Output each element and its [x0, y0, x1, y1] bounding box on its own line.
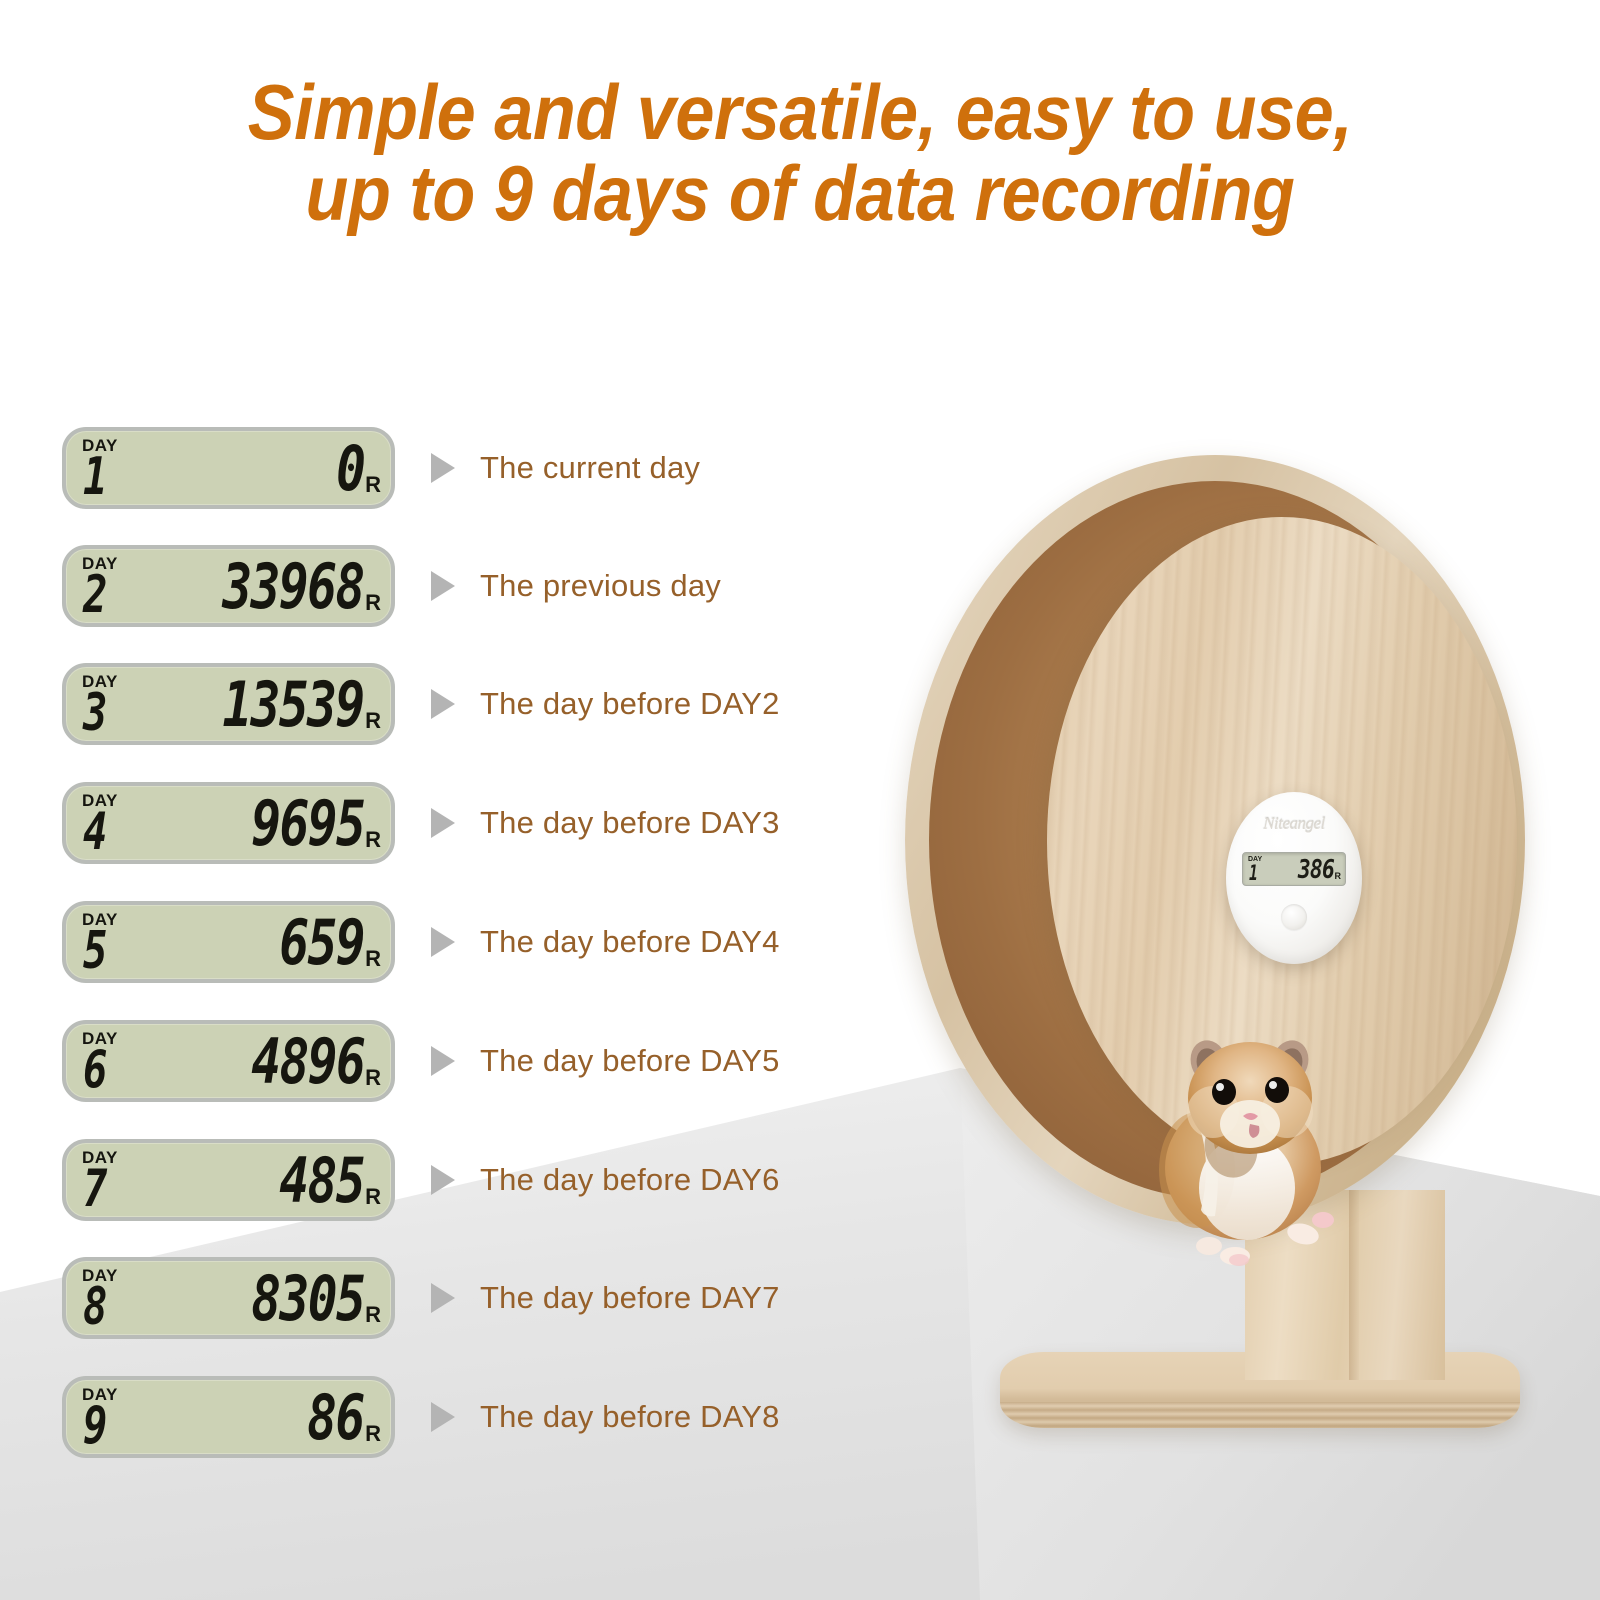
row-caption: The day before DAY7 [480, 1280, 780, 1316]
lcd-day-number: 1 [83, 451, 107, 503]
lcd-value: 485 [279, 1151, 364, 1211]
lcd-day-block: DAY 5 [80, 905, 132, 977]
row-caption: The day before DAY4 [480, 924, 780, 960]
counter-value: 386 [1297, 858, 1333, 882]
row-caption: The day before DAY3 [480, 805, 780, 841]
day-record-row: DAY 9 86 R The day before DAY8 [62, 1371, 780, 1463]
counter-value-block: 386 R [1267, 858, 1341, 884]
lcd-unit: R [365, 592, 381, 614]
lcd-day-block: DAY 2 [80, 549, 132, 621]
lcd-value-block: 0 R [132, 431, 381, 503]
day-record-row: DAY 2 33968 R The previous day [62, 540, 721, 632]
lcd-value-block: 86 R [132, 1380, 381, 1452]
lcd-day-block: DAY 3 [80, 667, 132, 739]
day-record-row: DAY 3 13539 R The day before DAY2 [62, 658, 780, 750]
lcd-unit: R [365, 1423, 381, 1445]
lcd-value-block: 33968 R [132, 549, 381, 621]
lcd-value: 4896 [251, 1032, 364, 1092]
triangle-bullet-icon [431, 1165, 455, 1195]
lcd-display-day7: DAY 7 485 R [62, 1139, 395, 1221]
lcd-value-block: 13539 R [132, 667, 381, 739]
row-caption: The day before DAY5 [480, 1043, 780, 1079]
triangle-bullet-icon [431, 927, 455, 957]
counter-lcd-display: DAY 1 386 R [1242, 852, 1346, 886]
lcd-unit: R [365, 948, 381, 970]
lcd-value: 9695 [251, 794, 364, 854]
lcd-unit: R [365, 1067, 381, 1089]
lcd-value: 33968 [223, 557, 364, 617]
lcd-day-number: 8 [83, 1281, 107, 1333]
headline-line-1: Simple and versatile, easy to use, [80, 72, 1520, 153]
lcd-value-block: 659 R [132, 905, 381, 977]
row-caption: The day before DAY2 [480, 686, 780, 722]
lcd-day-block: DAY 4 [80, 786, 132, 858]
lcd-day-number: 3 [83, 687, 107, 739]
lcd-day-number: 4 [83, 806, 107, 858]
counter-unit: R [1335, 871, 1342, 881]
lcd-day-number: 2 [83, 569, 107, 621]
day-record-row: DAY 5 659 R The day before DAY4 [62, 896, 780, 988]
lcd-value-block: 9695 R [132, 786, 381, 858]
counter-day-block: DAY 1 [1247, 853, 1267, 884]
lcd-value: 0 [336, 439, 364, 499]
triangle-bullet-icon [431, 1402, 455, 1432]
lcd-unit: R [365, 829, 381, 851]
day-record-row: DAY 8 8305 R The day before DAY7 [62, 1252, 780, 1344]
day-record-row: DAY 7 485 R The day before DAY6 [62, 1134, 780, 1226]
lcd-value: 8305 [251, 1269, 364, 1329]
lcd-day-number: 7 [83, 1163, 107, 1215]
lcd-day-block: DAY 7 [80, 1143, 132, 1215]
row-caption: The previous day [480, 568, 721, 604]
lcd-display-day3: DAY 3 13539 R [62, 663, 395, 745]
wheel-counter-module[interactable]: Niteangel DAY 1 386 R [1226, 792, 1362, 964]
lcd-display-day1: DAY 1 0 R [62, 427, 395, 509]
triangle-bullet-icon [431, 1046, 455, 1076]
lcd-day-block: DAY 6 [80, 1024, 132, 1096]
lcd-display-day8: DAY 8 8305 R [62, 1257, 395, 1339]
lcd-day-number: 6 [83, 1044, 107, 1096]
row-caption: The day before DAY8 [480, 1399, 780, 1435]
lcd-day-number: 5 [83, 925, 107, 977]
lcd-unit: R [365, 474, 381, 496]
row-caption: The day before DAY6 [480, 1162, 780, 1198]
lcd-value: 86 [308, 1388, 365, 1448]
triangle-bullet-icon [431, 453, 455, 483]
page-title: Simple and versatile, easy to use, up to… [0, 72, 1600, 234]
counter-day-number: 1 [1249, 863, 1258, 884]
day-record-row: DAY 1 0 R The current day [62, 422, 700, 514]
triangle-bullet-icon [431, 1283, 455, 1313]
day-record-row: DAY 6 4896 R The day before DAY5 [62, 1015, 780, 1107]
triangle-bullet-icon [431, 808, 455, 838]
lcd-value-block: 8305 R [132, 1261, 381, 1333]
brand-logo: Niteangel [1255, 814, 1333, 836]
headline-line-2: up to 9 days of data recording [80, 153, 1520, 234]
lcd-day-block: DAY 9 [80, 1380, 132, 1452]
lcd-display-day6: DAY 6 4896 R [62, 1020, 395, 1102]
lcd-unit: R [365, 1186, 381, 1208]
lcd-day-number: 9 [83, 1400, 107, 1452]
lcd-value: 659 [279, 913, 364, 973]
lcd-display-day2: DAY 2 33968 R [62, 545, 395, 627]
lcd-day-block: DAY 8 [80, 1261, 132, 1333]
lcd-display-day4: DAY 4 9695 R [62, 782, 395, 864]
hamster-photo [1135, 1020, 1365, 1270]
row-caption: The current day [480, 450, 700, 486]
lcd-value: 13539 [223, 675, 364, 735]
day-record-row: DAY 4 9695 R The day before DAY3 [62, 777, 780, 869]
lcd-display-day5: DAY 5 659 R [62, 901, 395, 983]
lcd-display-day9: DAY 9 86 R [62, 1376, 395, 1458]
lcd-unit: R [365, 1304, 381, 1326]
lcd-value-block: 485 R [132, 1143, 381, 1215]
counter-reset-button[interactable] [1281, 904, 1307, 930]
lcd-unit: R [365, 710, 381, 732]
infographic-canvas: Simple and versatile, easy to use, up to… [0, 0, 1600, 1600]
triangle-bullet-icon [431, 689, 455, 719]
day-record-list: DAY 1 0 R The current day DAY 2 [0, 0, 1600, 1600]
triangle-bullet-icon [431, 571, 455, 601]
lcd-value-block: 4896 R [132, 1024, 381, 1096]
lcd-day-block: DAY 1 [80, 431, 132, 503]
